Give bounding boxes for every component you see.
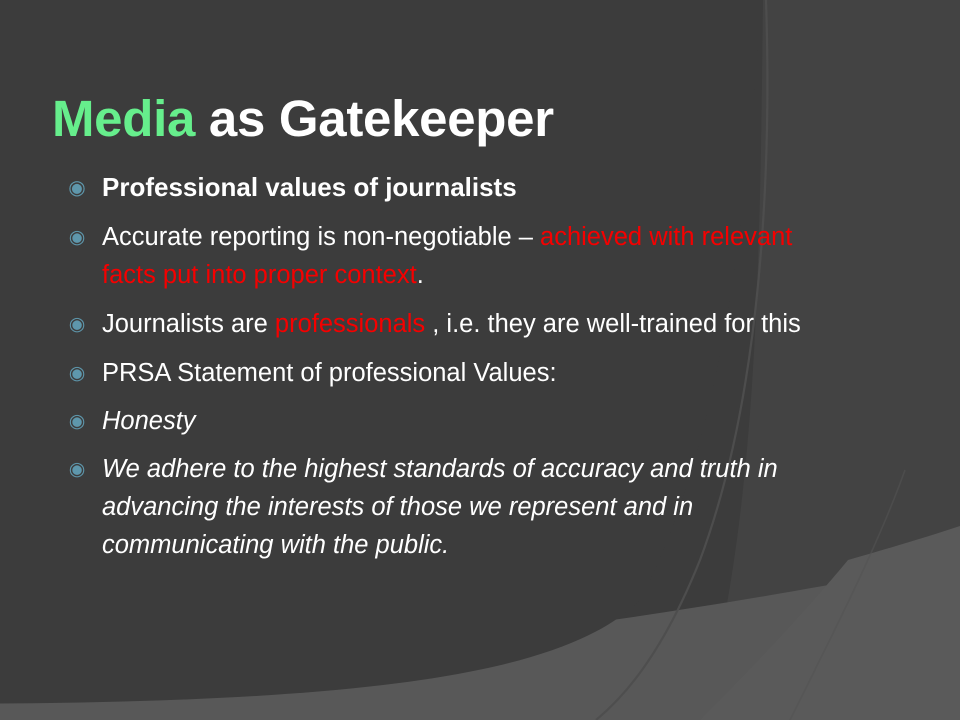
text-run: Honesty xyxy=(102,407,196,435)
list-item: ◉ PRSA Statement of professional Values: xyxy=(56,354,826,392)
fisheye-bullet-icon: ◉ xyxy=(66,354,88,392)
fisheye-bullet-icon: ◉ xyxy=(66,450,88,488)
text-run: . xyxy=(417,261,424,289)
title-rest: as Gatekeeper xyxy=(195,90,554,147)
text-run: PRSA Statement of professional Values: xyxy=(102,359,557,387)
list-item: ◉ Honesty xyxy=(56,402,826,440)
list-item: ◉ We adhere to the highest standards of … xyxy=(56,450,826,564)
text-run: , i.e. they are well-trained for this xyxy=(425,310,801,338)
list-item-text: PRSA Statement of professional Values: xyxy=(102,359,557,387)
fisheye-bullet-icon: ◉ xyxy=(66,305,88,343)
presentation-slide: Media as Gatekeeper ◉ Professional value… xyxy=(0,0,960,720)
text-run-highlight: professionals xyxy=(275,310,425,338)
list-item-text: Journalists are professionals , i.e. the… xyxy=(102,310,801,338)
fisheye-bullet-icon: ◉ xyxy=(66,168,88,206)
list-item-text: We adhere to the highest standards of ac… xyxy=(102,455,778,559)
list-item: ◉ Journalists are professionals , i.e. t… xyxy=(56,305,826,343)
text-run: Accurate reporting is non-negotiable – xyxy=(102,223,540,251)
text-run: We adhere to the highest standards of ac… xyxy=(102,455,778,559)
title-accent-word: Media xyxy=(52,90,195,147)
list-item-text: Honesty xyxy=(102,407,196,435)
fisheye-bullet-icon: ◉ xyxy=(66,218,88,256)
fisheye-bullet-icon: ◉ xyxy=(66,402,88,440)
list-item: ◉ Accurate reporting is non-negotiable –… xyxy=(56,218,826,294)
list-item-text: Professional values of journalists xyxy=(102,172,517,202)
slide-content: Media as Gatekeeper ◉ Professional value… xyxy=(0,0,960,720)
bullet-list: ◉ Professional values of journalists ◉ A… xyxy=(56,168,826,564)
list-item-text: Accurate reporting is non-negotiable – a… xyxy=(102,223,792,289)
page-title: Media as Gatekeeper xyxy=(52,90,554,148)
text-run: Journalists are xyxy=(102,310,275,338)
list-item: ◉ Professional values of journalists xyxy=(56,168,826,206)
text-run: Professional values of journalists xyxy=(102,172,517,202)
